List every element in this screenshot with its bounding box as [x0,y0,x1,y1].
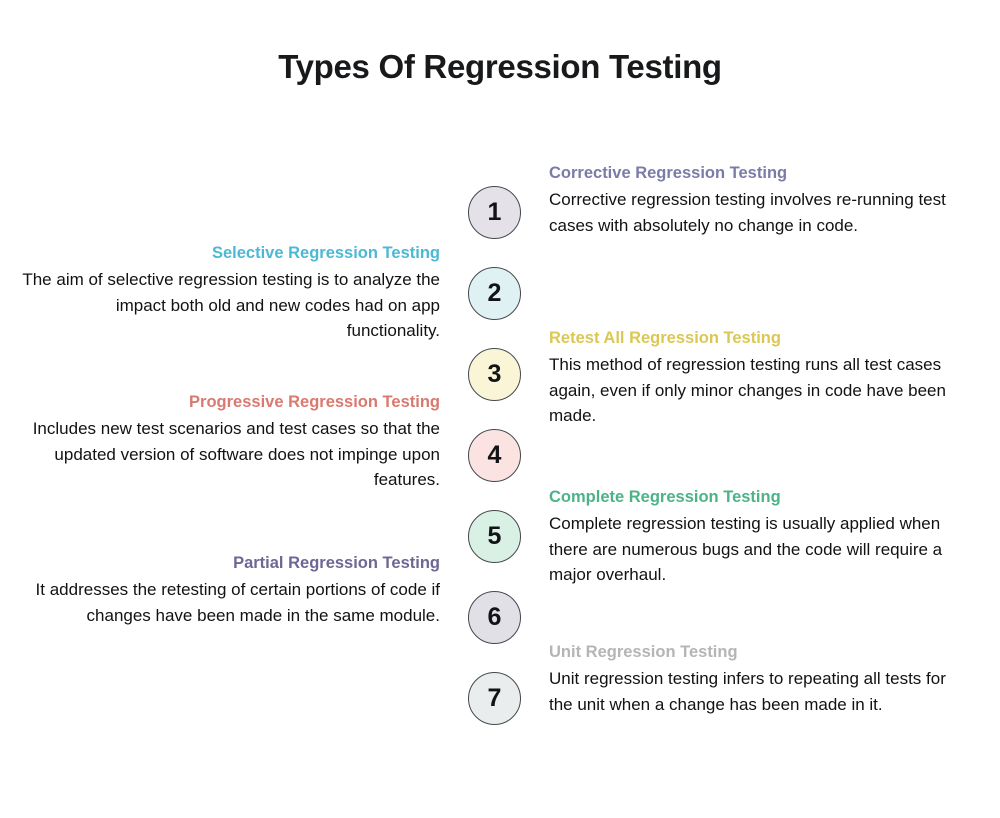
item-body-complete: Complete regression testing is usually a… [549,511,969,588]
item-block-complete: Complete Regression Testing Complete reg… [549,487,969,588]
item-heading-unit: Unit Regression Testing [549,642,969,664]
item-heading-complete: Complete Regression Testing [549,487,969,509]
number-label-4: 4 [488,443,502,468]
item-heading-progressive: Progressive Regression Testing [0,392,440,414]
item-block-corrective: Corrective Regression Testing Corrective… [549,163,969,238]
number-badge-4: 4 [468,429,521,482]
number-label-5: 5 [488,524,502,549]
infographic-page: Types Of Regression Testing 1 2 3 4 5 6 … [0,0,1000,818]
item-block-unit: Unit Regression Testing Unit regression … [549,642,969,717]
item-heading-retest-all: Retest All Regression Testing [549,328,969,350]
item-block-partial: Partial Regression Testing It addresses … [20,553,440,628]
number-badge-7: 7 [468,672,521,725]
item-block-progressive: Progressive Regression Testing Includes … [0,392,440,493]
item-body-progressive: Includes new test scenarios and test cas… [0,416,440,493]
number-label-6: 6 [488,605,502,630]
number-badge-2: 2 [468,267,521,320]
number-badge-3: 3 [468,348,521,401]
item-heading-selective: Selective Regression Testing [20,243,440,265]
item-heading-corrective: Corrective Regression Testing [549,163,969,185]
item-body-unit: Unit regression testing infers to repeat… [549,666,969,718]
number-label-3: 3 [488,362,502,387]
item-body-corrective: Corrective regression testing involves r… [549,187,969,239]
item-heading-partial: Partial Regression Testing [20,553,440,575]
number-badge-5: 5 [468,510,521,563]
number-label-2: 2 [488,281,502,306]
item-block-selective: Selective Regression Testing The aim of … [20,243,440,344]
page-title: Types Of Regression Testing [0,48,1000,86]
number-badge-6: 6 [468,591,521,644]
item-body-selective: The aim of selective regression testing … [20,267,440,344]
item-block-retest-all: Retest All Regression Testing This metho… [549,328,969,429]
item-body-retest-all: This method of regression testing runs a… [549,352,969,429]
number-badge-1: 1 [468,186,521,239]
number-label-7: 7 [488,686,502,711]
item-body-partial: It addresses the retesting of certain po… [20,577,440,629]
number-rail: 1 2 3 4 5 6 7 [468,186,522,726]
number-label-1: 1 [488,200,502,225]
